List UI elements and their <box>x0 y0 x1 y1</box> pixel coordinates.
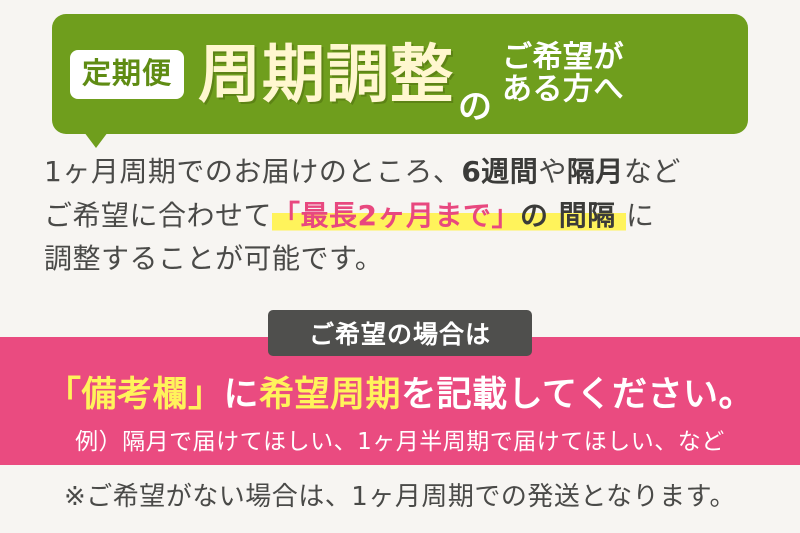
instruction-remarks-field: 「備考欄」 <box>46 375 224 415</box>
header-callout: 定期便 周期調整 の ご希望が ある方へ <box>52 14 748 134</box>
instruction-part-d: を記載してください。 <box>401 375 754 415</box>
page-title-particle: の <box>458 79 492 134</box>
header-subtitle: ご希望が ある方へ <box>502 42 624 107</box>
page-title: 周期調整 <box>198 43 454 106</box>
description-line-1-part-c: や <box>538 155 567 188</box>
ribbon-if-requested: ご希望の場合は <box>268 310 532 356</box>
description-highlight-interval: の 間隔 <box>520 199 626 232</box>
description-line-2-part-a: ご希望に合わせて <box>44 199 272 232</box>
description-line-2: ご希望に合わせて「最長2ヶ月まで」の 間隔 に <box>44 194 760 238</box>
description-line-1-part-e: など <box>624 155 681 188</box>
description-emphasis-6weeks: 6週間 <box>461 155 538 188</box>
header-subtitle-line2: ある方へ <box>502 74 624 106</box>
instruction-text: 「備考欄」に希望周期を記載してください。 <box>0 366 800 417</box>
description-emphasis-bimonthly: 隔月 <box>567 155 624 188</box>
callout-tail <box>84 132 108 148</box>
badge-teikibin: 定期便 <box>70 50 184 99</box>
description-paragraph: 1ヶ月周期でのお届けのところ、6週間や隔月など ご希望に合わせて「最長2ヶ月まで… <box>44 150 760 281</box>
description-line-1: 1ヶ月周期でのお届けのところ、6週間や隔月など <box>44 150 760 194</box>
header-subtitle-line1: ご希望が <box>502 42 624 74</box>
header-content: 定期便 周期調整 の ご希望が ある方へ <box>52 14 748 134</box>
instruction-part-b: に <box>224 375 260 415</box>
description-highlight-maxtwomonths: 「最長2ヶ月まで」 <box>272 199 520 232</box>
description-line-3: 調整することが可能です。 <box>44 237 760 281</box>
description-line-2-part-d: に <box>626 199 655 232</box>
subscription-cycle-notice-banner: 定期便 周期調整 の ご希望が ある方へ 1ヶ月周期でのお届けのところ、6週間や… <box>0 0 800 533</box>
instruction-example: 例）隔月で届けてほしい、1ヶ月半周期で届けてほしい、など <box>0 422 800 456</box>
ribbon-label: ご希望の場合は <box>309 315 491 351</box>
instruction-desired-cycle: 希望周期 <box>259 375 401 415</box>
description-line-1-part-a: 1ヶ月周期でのお届けのところ、 <box>44 155 461 188</box>
default-cycle-note: ※ご希望がない場合は、1ヶ月周期での発送となります。 <box>0 476 800 513</box>
